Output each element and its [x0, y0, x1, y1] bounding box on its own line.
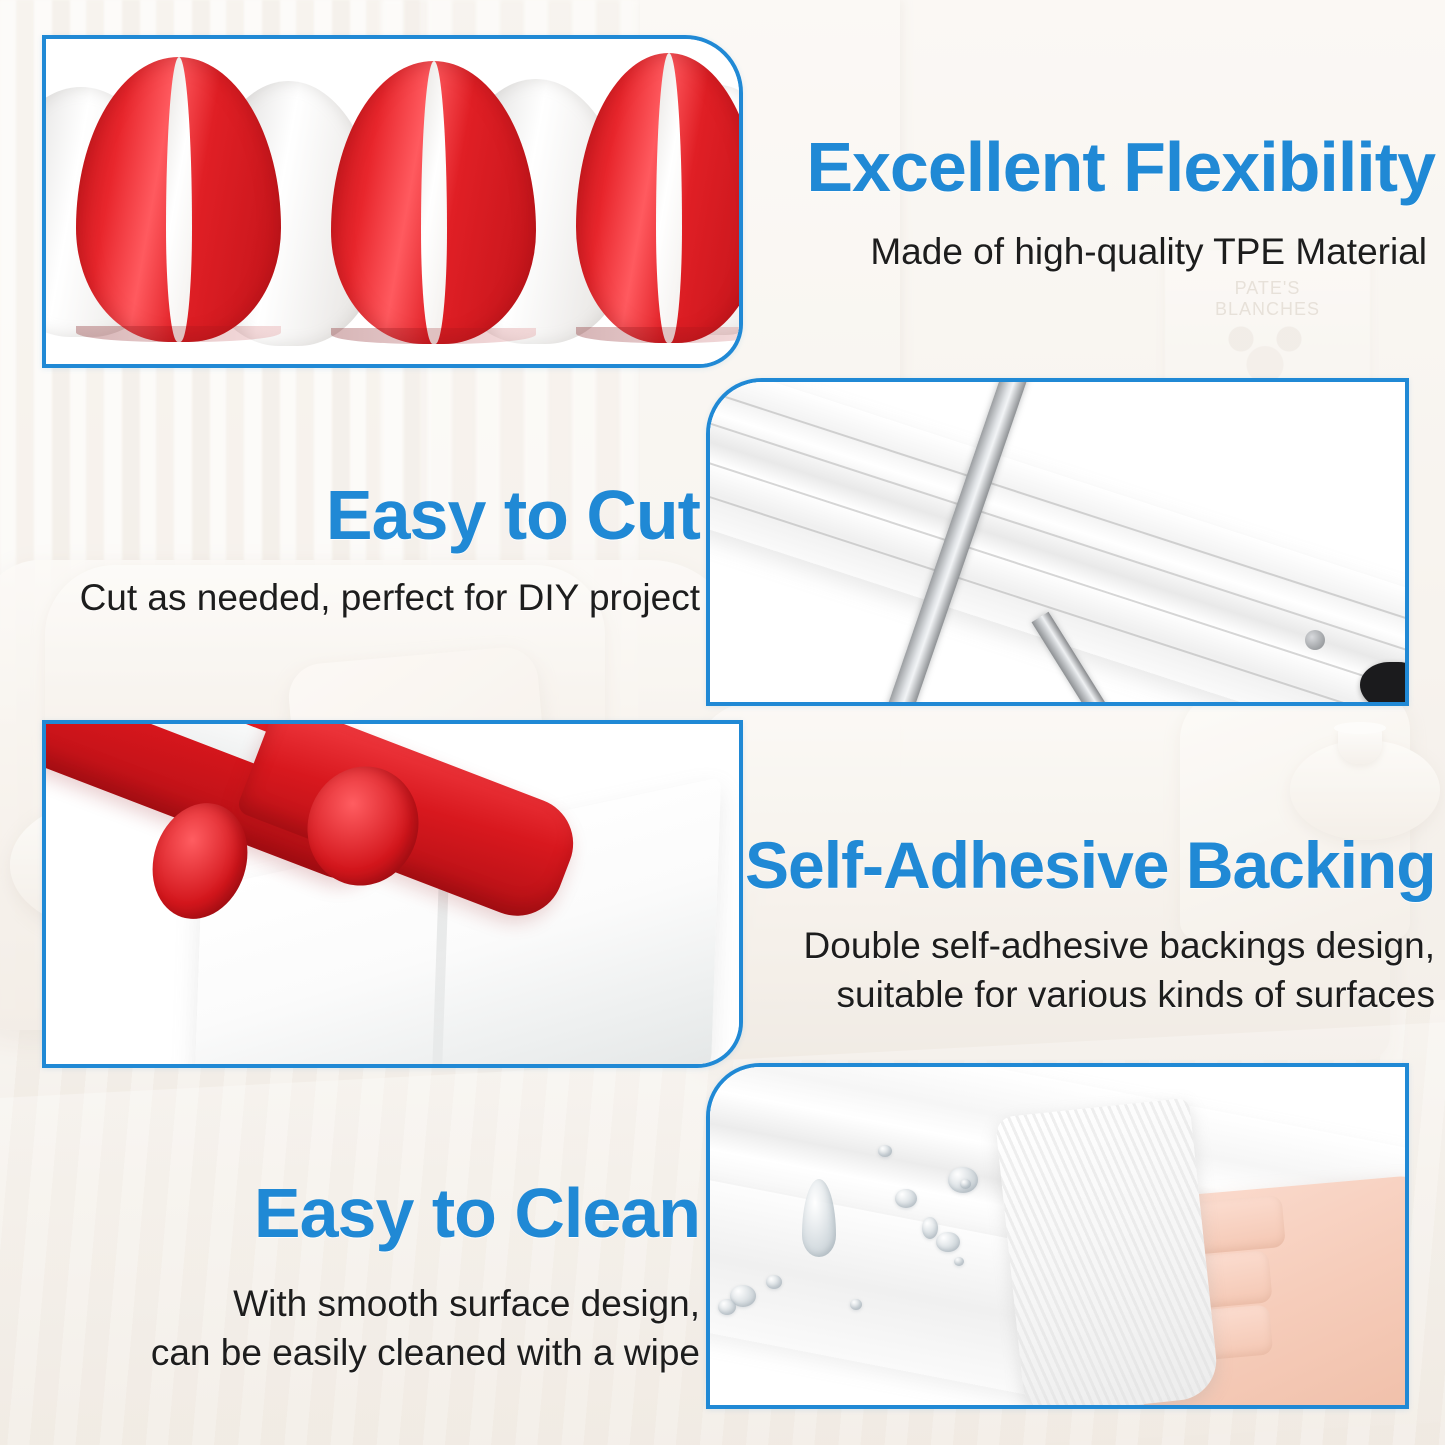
coil-front-3 [576, 53, 739, 343]
subtitle-flexibility: Made of high-quality TPE Material [745, 228, 1435, 275]
coil-front-2 [331, 61, 536, 344]
feature-text-flexibility: Excellent Flexibility Made of high-quali… [745, 132, 1435, 275]
subtitle-clean-line1: With smooth surface design, [20, 1280, 700, 1327]
photo-panel-adhesive [42, 720, 743, 1068]
subtitle-cut: Cut as needed, perfect for DIY project [20, 574, 700, 621]
cleaning-wipe [995, 1098, 1220, 1405]
photo-wiping-strip [710, 1067, 1405, 1405]
photo-scissors-cutting [710, 382, 1405, 702]
photo-panel-cut [706, 378, 1409, 706]
coil-edge-3 [576, 327, 739, 343]
photo-adhesive-backing [46, 724, 739, 1064]
water-droplet-2 [895, 1189, 917, 1208]
coil-white-stripe-1 [166, 57, 192, 342]
water-droplet-4 [922, 1217, 938, 1239]
scissor-pivot-screw [1305, 630, 1325, 650]
photo-coiled-strip [46, 39, 739, 364]
water-droplet-5 [936, 1232, 960, 1252]
feature-text-clean: Easy to Clean With smooth surface design… [20, 1178, 700, 1377]
coil-edge-2 [331, 328, 536, 344]
photo-panel-flexibility [42, 35, 743, 368]
water-droplet-9 [718, 1299, 736, 1315]
headline-cut: Easy to Cut [20, 480, 700, 550]
subtitle-clean-line2: can be easily cleaned with a wipe [20, 1329, 700, 1376]
water-droplet-10 [850, 1299, 862, 1310]
coil-edge-1 [76, 326, 281, 342]
headline-flexibility: Excellent Flexibility [745, 132, 1435, 202]
water-droplet-11 [954, 1257, 964, 1266]
infographic-root: PATE'S BLANCHES [0, 0, 1445, 1445]
headline-clean: Easy to Clean [20, 1178, 700, 1248]
coil-front-1 [76, 57, 281, 342]
water-droplet-6 [960, 1179, 971, 1189]
feature-text-cut: Easy to Cut Cut as needed, perfect for D… [20, 480, 700, 621]
subtitle-adhesive-line2: suitable for various kinds of surfaces [745, 971, 1435, 1018]
headline-adhesive: Self-Adhesive Backing [745, 832, 1435, 898]
water-droplet-3 [878, 1145, 892, 1157]
photo-panel-clean [706, 1063, 1409, 1409]
coil-white-stripe-3 [656, 53, 682, 343]
subtitle-adhesive-line1: Double self-adhesive backings design, [745, 922, 1435, 969]
water-droplet-8 [766, 1275, 782, 1289]
coil-white-stripe-2 [421, 61, 447, 344]
feature-text-adhesive: Self-Adhesive Backing Double self-adhesi… [745, 832, 1435, 1019]
